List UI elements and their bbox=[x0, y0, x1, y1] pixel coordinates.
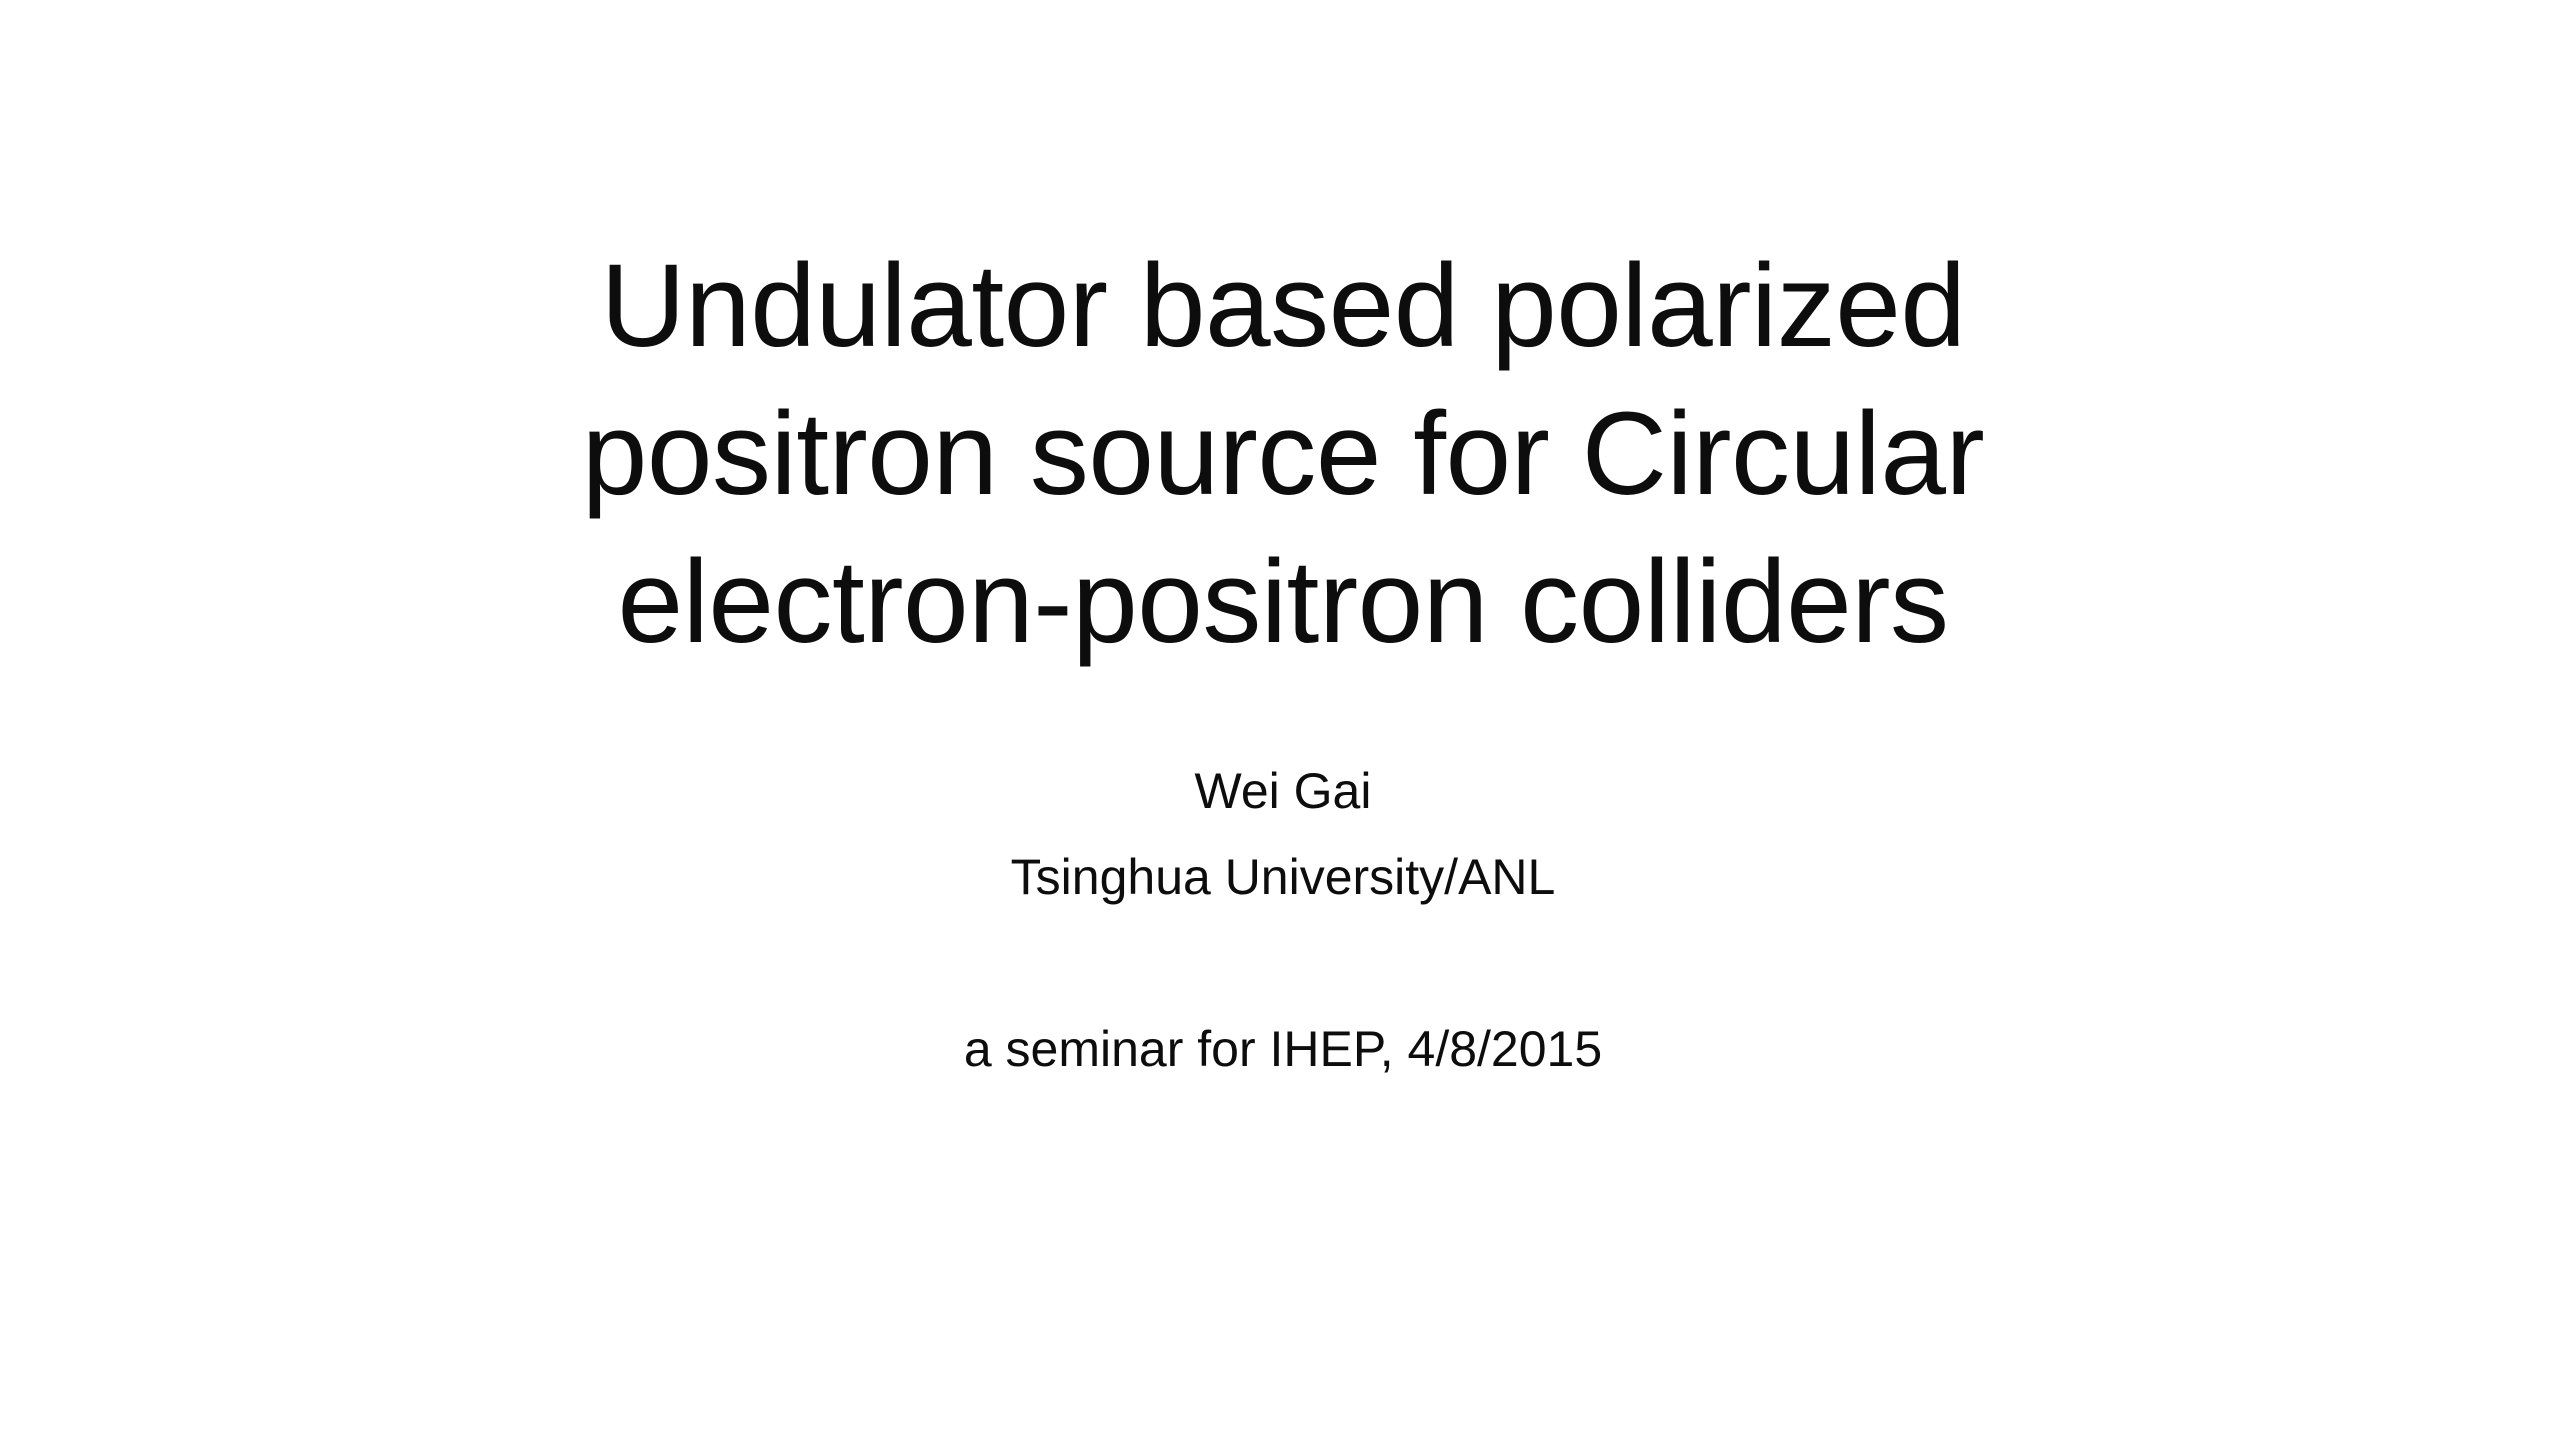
title-line-1: Undulator based polarized bbox=[256, 232, 2310, 380]
author-affiliation: Tsinghua University/ANL bbox=[384, 834, 2182, 920]
author-name: Wei Gai bbox=[384, 748, 2182, 834]
subtitle-blank-line bbox=[384, 920, 2182, 1006]
title-line-3: electron-positron colliders bbox=[256, 528, 2310, 676]
title-line-2: positron source for Circular bbox=[256, 380, 2310, 528]
subtitle-placeholder[interactable]: Wei Gai Tsinghua University/ANL a semina… bbox=[384, 748, 2182, 1092]
event-and-date: a seminar for IHEP, 4/8/2015 bbox=[384, 1006, 2182, 1092]
presentation-title-slide: Undulator based polarized positron sourc… bbox=[0, 0, 2560, 1440]
title-placeholder[interactable]: Undulator based polarized positron sourc… bbox=[256, 232, 2310, 676]
